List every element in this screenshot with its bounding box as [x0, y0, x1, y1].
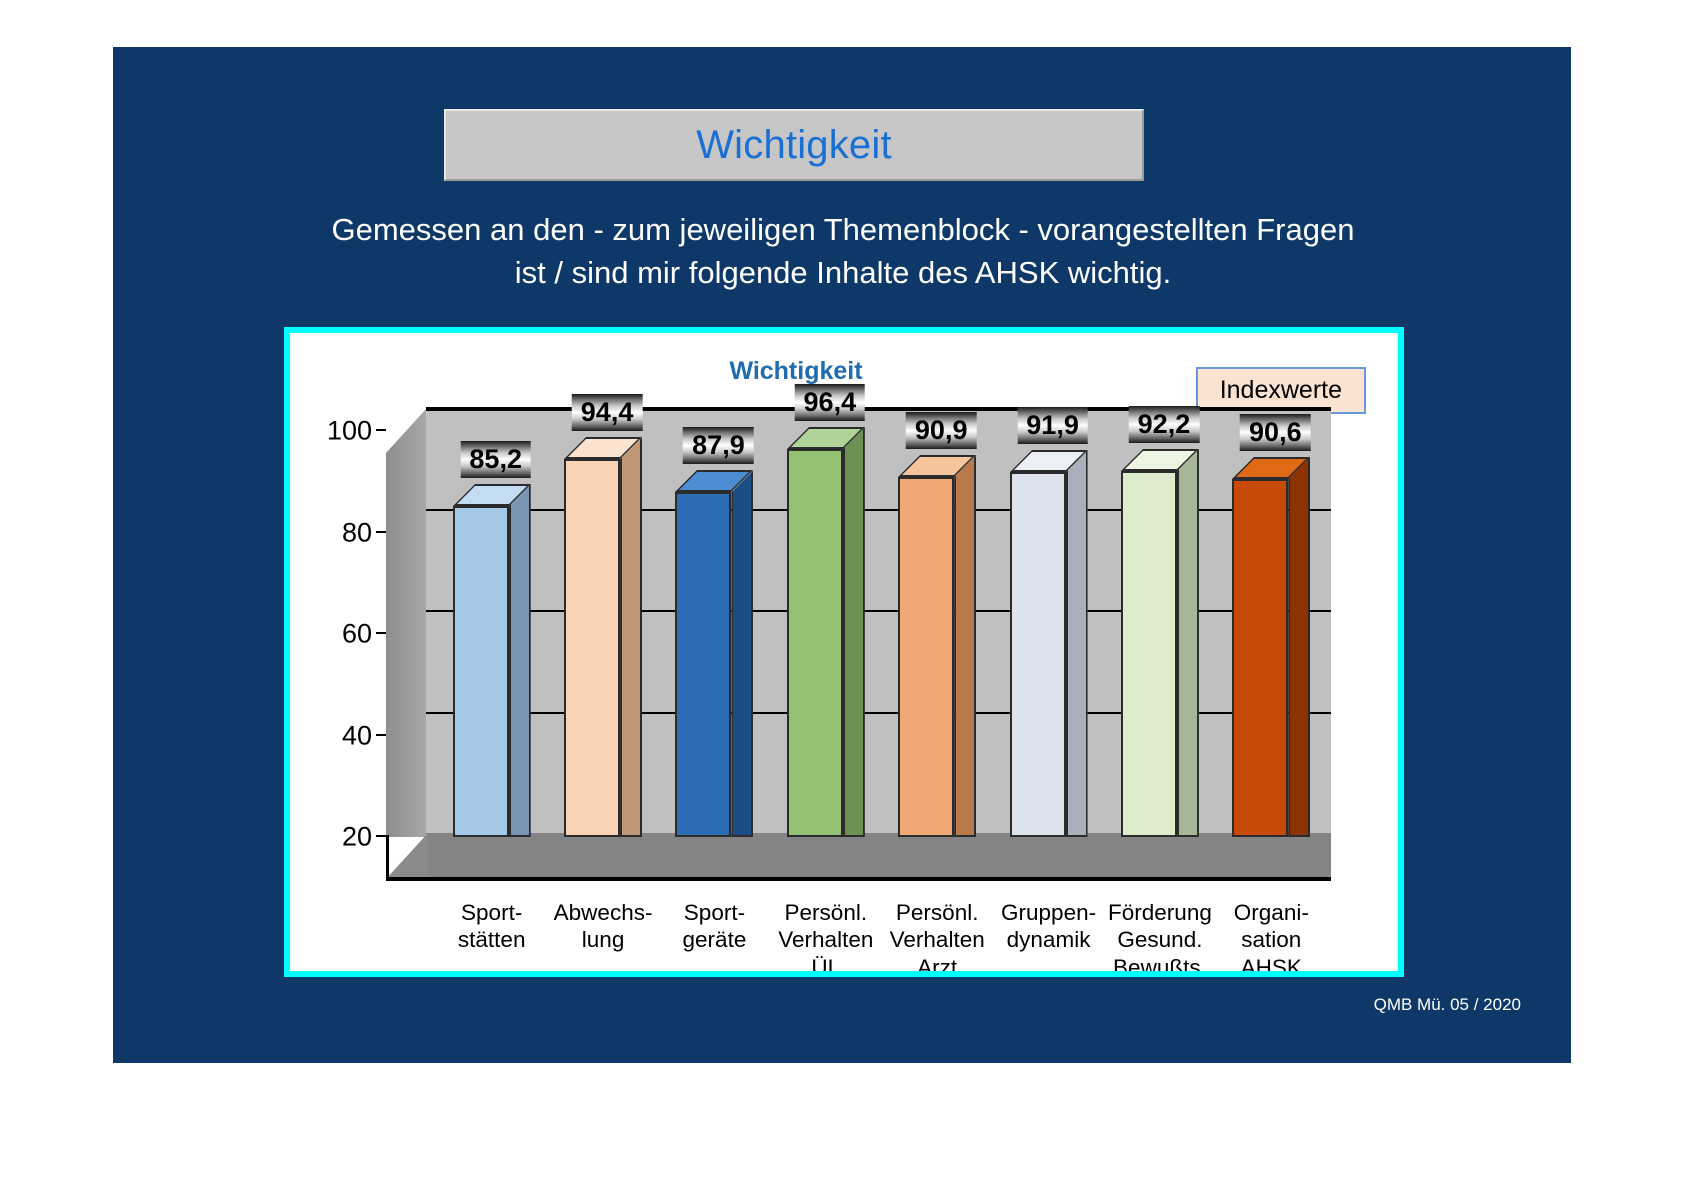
y-axis-tick-label: 80: [342, 517, 372, 548]
bar-value-label: 91,9: [1017, 407, 1088, 444]
bar-side-face-fill: [1177, 449, 1199, 837]
x-axis-category-line: Abwechs-: [554, 899, 653, 926]
chart-panel: Wichtigkeit Indexwerte 10080604020 85,29…: [284, 327, 1404, 977]
x-axis-category-label: Organi-sationAHSK: [1234, 899, 1309, 971]
y-axis-tick-label: 20: [342, 822, 372, 853]
bar: [1010, 472, 1066, 837]
x-axis-category-line: Verhalten: [890, 926, 985, 953]
plot-floor-corner: [386, 833, 428, 879]
bar-front-face: [1010, 472, 1066, 837]
bar: [675, 492, 731, 837]
bar-front-face: [1121, 471, 1177, 837]
bar-side-face-fill: [843, 427, 865, 837]
slide-title: Wichtigkeit: [696, 123, 892, 168]
plot-side-wall: [386, 409, 426, 837]
x-axis-category-line: Bewußts.: [1108, 954, 1212, 971]
x-axis-category-line: ÜL: [778, 954, 873, 971]
bar-value-label: 85,2: [460, 441, 531, 478]
plot-floor: [426, 833, 1331, 879]
y-axis-tick: [376, 429, 386, 431]
x-axis-category-line: Arzt: [890, 954, 985, 971]
bar: [1121, 471, 1177, 837]
bar: [564, 459, 620, 837]
slide-title-banner: Wichtigkeit: [444, 109, 1144, 181]
y-axis-tick-label: 60: [342, 619, 372, 650]
x-axis-category-line: geräte: [683, 926, 747, 953]
x-axis-category-line: Gruppen-: [1001, 899, 1096, 926]
x-axis-category-label: Sport-geräte: [683, 899, 747, 954]
x-axis-category-line: Gesund.: [1108, 926, 1212, 953]
bar-side-face: [1288, 457, 1310, 837]
bar-value-label: 94,4: [572, 394, 643, 431]
chart-inner: Wichtigkeit Indexwerte 10080604020 85,29…: [290, 333, 1398, 971]
x-axis-category-label: Persönl.VerhaltenÜL: [778, 899, 873, 971]
bar-side-face-fill: [731, 470, 753, 837]
y-axis-line: [386, 835, 389, 881]
bar: [898, 477, 954, 837]
bar-side-face-fill: [620, 437, 642, 837]
y-axis-tick: [376, 632, 386, 634]
x-axis-line: [386, 878, 1331, 881]
x-axis-category-line: dynamik: [1001, 926, 1096, 953]
bar-side-face: [954, 455, 976, 837]
x-axis-labels: Sport-stättenAbwechs-lungSport-gerätePer…: [386, 899, 1331, 971]
bar-value-label: 92,2: [1129, 406, 1200, 443]
x-axis-category-line: Förderung: [1108, 899, 1212, 926]
bar-front-face: [564, 459, 620, 837]
x-axis-category-line: Organi-: [1234, 899, 1309, 926]
bar-side-face-fill: [1288, 457, 1310, 837]
x-axis-category-label: FörderungGesund.Bewußts.: [1108, 899, 1212, 971]
x-axis-category-line: stätten: [458, 926, 526, 953]
bar-side-face-fill: [1066, 450, 1088, 837]
y-axis-tick-label: 40: [342, 720, 372, 751]
subtitle-line-1: Gemessen an den - zum jeweiligen Themenb…: [233, 209, 1453, 252]
x-axis-category-line: Verhalten: [778, 926, 873, 953]
bar: [1232, 479, 1288, 837]
y-axis-tick-label: 100: [327, 416, 372, 447]
slide-subtitle: Gemessen an den - zum jeweiligen Themenb…: [233, 209, 1453, 295]
x-axis-category-label: Gruppen-dynamik: [1001, 899, 1096, 954]
legend-entry-indexwerte: Indexwerte: [1220, 376, 1342, 404]
bar-front-face: [675, 492, 731, 837]
bar-side-face: [509, 484, 531, 837]
bar-front-face: [898, 477, 954, 837]
bar-side-face: [1066, 450, 1088, 837]
bar-front-face: [453, 506, 509, 837]
x-axis-category-label: Persönl.VerhaltenArzt: [890, 899, 985, 971]
bar-value-label: 90,9: [906, 412, 977, 449]
slide-footer: QMB Mü. 05 / 2020: [1374, 995, 1521, 1015]
bar-value-label: 96,4: [795, 384, 866, 421]
x-axis-category-line: lung: [554, 926, 653, 953]
x-axis-category-line: AHSK: [1234, 954, 1309, 971]
bar-side-face: [731, 470, 753, 837]
bar-value-label: 90,6: [1240, 414, 1311, 451]
bar-side-face-fill: [509, 484, 531, 837]
slide-canvas: Wichtigkeit Gemessen an den - zum jeweil…: [113, 47, 1571, 1063]
x-axis-category-line: Persönl.: [778, 899, 873, 926]
y-axis-tick: [376, 734, 386, 736]
bar-side-face: [1177, 449, 1199, 837]
bar-side-face: [843, 427, 865, 837]
plot-area: 10080604020 85,294,487,996,490,991,992,2…: [386, 409, 1331, 899]
x-axis-category-line: Sport-: [458, 899, 526, 926]
bar-value-label: 87,9: [683, 427, 754, 464]
x-axis-category-line: Persönl.: [890, 899, 985, 926]
bar-side-face: [620, 437, 642, 837]
chart-title: Wichtigkeit: [290, 357, 1350, 386]
bar-side-face-fill: [954, 455, 976, 837]
subtitle-line-2: ist / sind mir folgende Inhalte des AHSK…: [233, 252, 1453, 295]
bar: [787, 449, 843, 837]
y-axis-tick: [376, 835, 386, 837]
bar-front-face: [787, 449, 843, 837]
bar: [453, 506, 509, 837]
x-axis-category-line: Sport-: [683, 899, 747, 926]
y-axis-tick: [376, 531, 386, 533]
x-axis-category-line: sation: [1234, 926, 1309, 953]
x-axis-category-label: Sport-stätten: [458, 899, 526, 954]
x-axis-category-label: Abwechs-lung: [554, 899, 653, 954]
bar-front-face: [1232, 479, 1288, 837]
